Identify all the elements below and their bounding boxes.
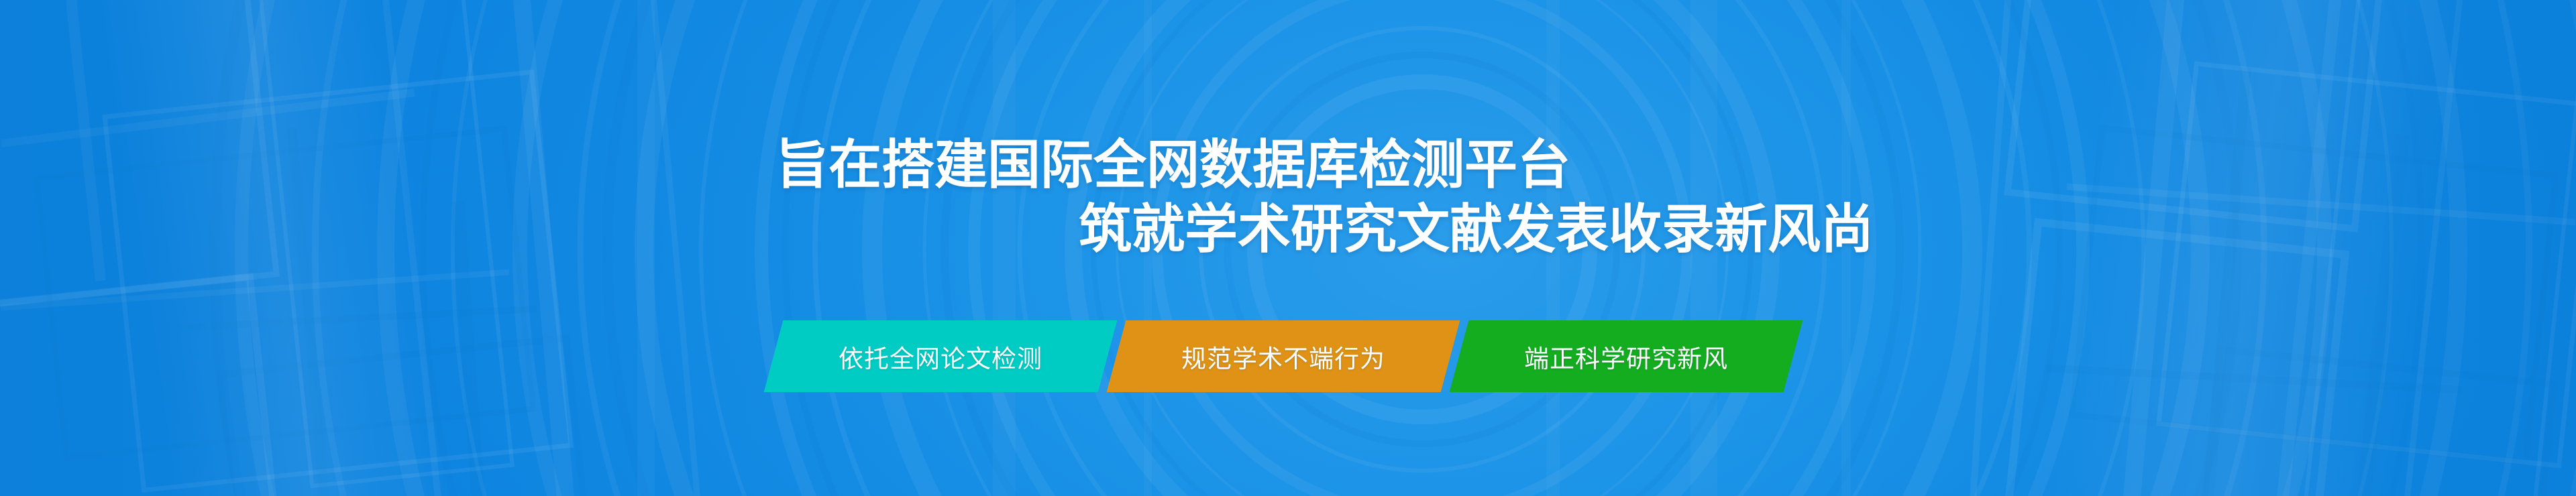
feature-tag-3[interactable]: 端正科学研究新风 xyxy=(1459,320,1793,392)
background-vignette xyxy=(0,0,2576,496)
feature-tag-2[interactable]: 规范学术不端行为 xyxy=(1116,320,1450,392)
feature-tag-1[interactable]: 依托全网论文检测 xyxy=(773,320,1108,392)
feature-tag-2-label: 规范学术不端行为 xyxy=(1181,338,1385,375)
feature-tag-3-label: 端正科学研究新风 xyxy=(1524,338,1728,375)
feature-tag-bar: 依托全网论文检测 规范学术不端行为 端正科学研究新风 xyxy=(765,320,1811,392)
promo-banner: 旨在搭建国际全网数据库检测平台 筑就学术研究文献发表收录新风尚 依托全网论文检测… xyxy=(0,0,2576,496)
feature-tag-1-label: 依托全网论文检测 xyxy=(839,338,1042,375)
